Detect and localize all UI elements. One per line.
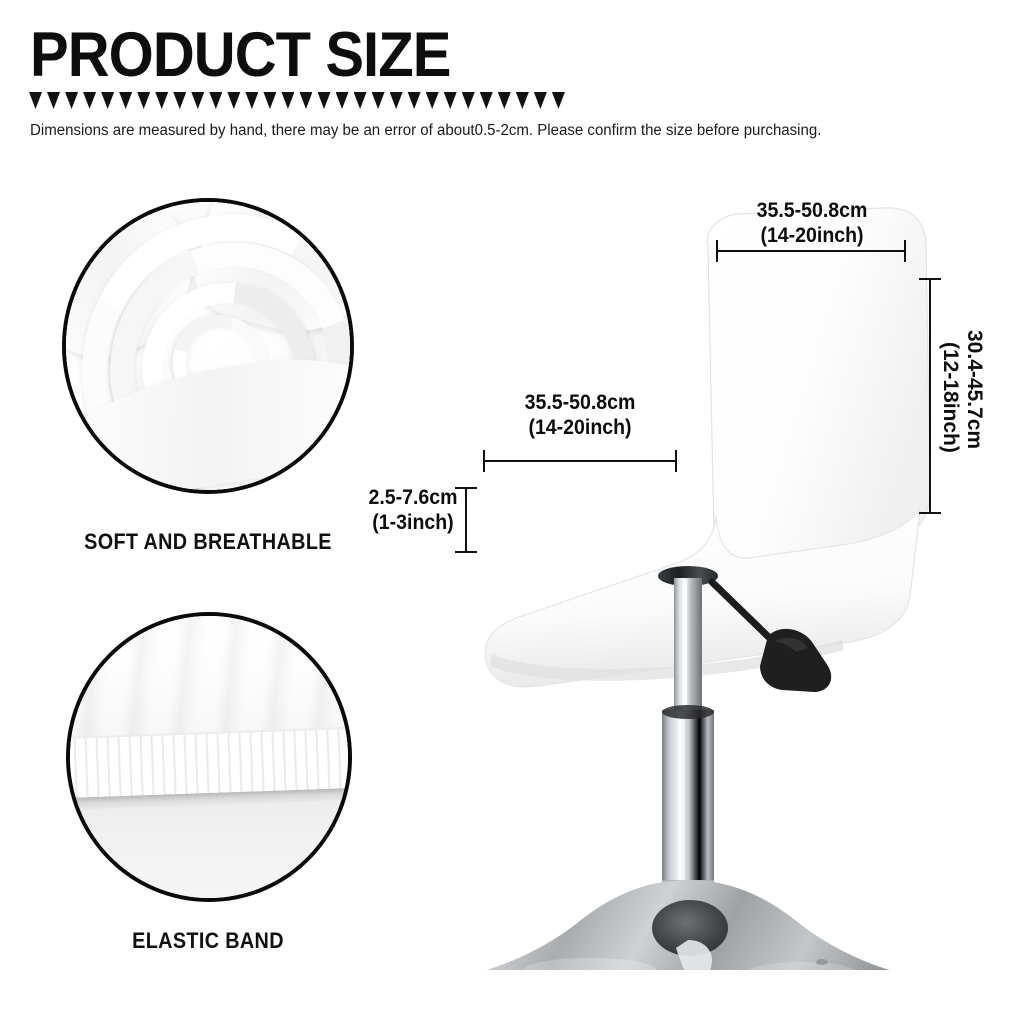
- dim-line-seat-thickness: [455, 487, 477, 553]
- triangle-marker: [534, 92, 547, 109]
- triangle-marker: [137, 92, 150, 109]
- triangle-marker: [299, 92, 312, 109]
- triangle-marker: [209, 92, 222, 109]
- triangle-marker: [444, 92, 457, 109]
- triangle-marker: [83, 92, 96, 109]
- page-title: PRODUCT SIZE: [30, 24, 450, 86]
- dim-value-cm: 30.4-45.7cm: [963, 330, 986, 449]
- triangle-marker: [281, 92, 294, 109]
- dim-value-inch: (12-18inch): [939, 342, 962, 453]
- triangle-marker: [516, 92, 529, 109]
- gas-cylinder-rod: [674, 578, 702, 714]
- dim-label-backrest-height: 30.4-45.7cm: [962, 330, 987, 449]
- dim-cap-right: [675, 450, 677, 472]
- fabric-swirl-icon: [62, 198, 354, 494]
- triangle-marker: [191, 92, 204, 109]
- elastic-band-ruching: [66, 726, 352, 799]
- triangle-marker: [552, 92, 565, 109]
- chair-illustration: [430, 180, 990, 970]
- dim-label-seat-depth: 35.5-50.8cm (14-20inch): [483, 390, 676, 440]
- dim-value-inch: (1-3inch): [362, 510, 464, 535]
- dim-bar: [465, 487, 467, 553]
- dim-bar: [716, 250, 906, 252]
- measurement-disclaimer: Dimensions are measured by hand, there m…: [30, 122, 821, 140]
- cover-fabric-drapes: [66, 612, 352, 746]
- triangle-marker: [318, 92, 331, 109]
- dim-value-cm: 35.5-50.8cm: [483, 390, 676, 415]
- triangle-marker: [372, 92, 385, 109]
- triangle-divider: [29, 92, 565, 110]
- triangle-marker: [29, 92, 42, 109]
- triangle-marker: [263, 92, 276, 109]
- feature-elastic-band: [66, 612, 352, 902]
- dim-cap-bottom: [919, 512, 941, 514]
- dim-label-seat-thickness: 2.5-7.6cm (1-3inch): [362, 485, 464, 535]
- triangle-marker: [119, 92, 132, 109]
- triangle-marker: [47, 92, 60, 109]
- cover-fabric-lower: [66, 796, 352, 902]
- triangle-marker: [65, 92, 78, 109]
- dim-value-cm: 2.5-7.6cm: [362, 485, 464, 510]
- triangle-marker: [336, 92, 349, 109]
- feature-caption-elastic-band: ELASTIC BAND: [70, 928, 345, 954]
- triangle-marker: [390, 92, 403, 109]
- triangle-marker: [480, 92, 493, 109]
- elastic-band-icon: [66, 612, 352, 902]
- triangle-marker: [426, 92, 439, 109]
- triangle-marker: [498, 92, 511, 109]
- triangle-marker: [408, 92, 421, 109]
- chair-backrest: [707, 208, 930, 574]
- dim-cap-right: [904, 240, 906, 262]
- triangle-marker: [245, 92, 258, 109]
- product-size-infographic: PRODUCT SIZE Dimensions are measured by …: [0, 0, 1024, 1024]
- triangle-marker: [101, 92, 114, 109]
- dim-bar: [483, 460, 677, 462]
- dim-line-seat-depth: [483, 450, 677, 472]
- triangle-marker: [173, 92, 186, 109]
- dim-cap-bottom: [455, 551, 477, 553]
- feature-soft-and-breathable: [62, 198, 354, 494]
- dim-bar: [929, 278, 931, 514]
- dim-value-inch: (14-20inch): [483, 415, 676, 440]
- triangle-marker: [462, 92, 475, 109]
- triangle-marker: [227, 92, 240, 109]
- dim-line-backrest-width: [716, 240, 906, 262]
- gas-cylinder-sleeve: [662, 710, 714, 884]
- feature-caption-soft-and-breathable: SOFT AND BREATHABLE: [70, 529, 345, 555]
- dim-value-cm: 35.5-50.8cm: [713, 198, 910, 223]
- dim-label-backrest-height-inch: (12-18inch): [938, 342, 963, 453]
- triangle-marker: [354, 92, 367, 109]
- triangle-marker: [155, 92, 168, 109]
